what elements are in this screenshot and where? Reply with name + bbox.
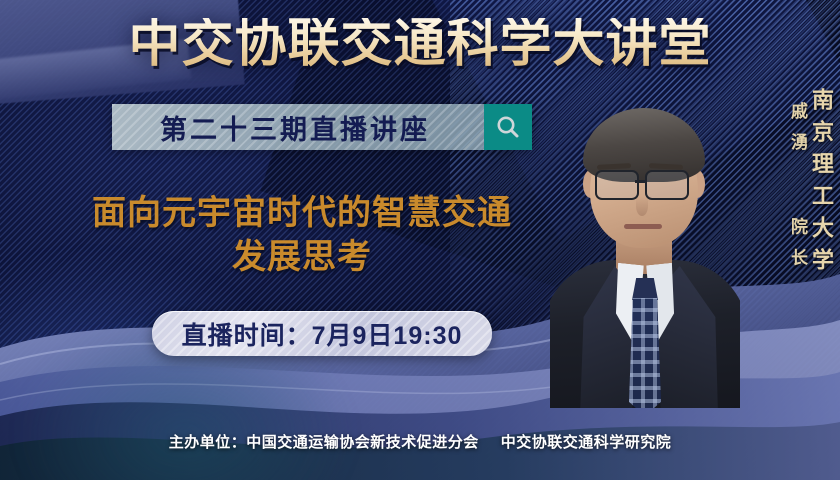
footer-organizer-2: 中交协联交通科学研究院 (501, 434, 672, 451)
search-icon (495, 114, 521, 140)
portrait-tie (629, 298, 661, 408)
lecture-topic: 面向元宇宙时代的智慧交通 发展思考 (52, 192, 552, 279)
portrait-nose (636, 196, 648, 216)
lecture-topic-line-1: 面向元宇宙时代的智慧交通 (52, 192, 552, 236)
portrait-tie-knot (632, 278, 658, 300)
speaker-affiliation: 南京理工大学 (810, 88, 832, 280)
live-lecture-poster: 中交协联交通科学大讲堂 第二十三期直播讲座 面向元宇宙时代的智慧交通 发展思考 … (0, 0, 840, 480)
portrait-glasses-right (645, 170, 689, 200)
speaker-name: 戚湧 (788, 102, 807, 164)
search-button[interactable] (484, 104, 532, 150)
footer-organizers: 主办单位：中国交通运输协会新技术促进分会中交协联交通科学研究院 (0, 431, 840, 452)
portrait-glasses-left (595, 170, 639, 200)
episode-bar: 第二十三期直播讲座 (112, 104, 532, 150)
speaker-name-title: 戚湧 院长 (789, 102, 806, 279)
broadcast-time-label: 直播时间：7月9日19:30 (182, 316, 463, 352)
speaker-portrait (550, 108, 740, 408)
portrait-glasses-bridge (635, 180, 645, 183)
footer-organizer-1: 中国交通运输协会新技术促进分会 (246, 434, 479, 451)
footer-prefix: 主办单位： (169, 434, 247, 451)
portrait-figure (550, 108, 740, 408)
portrait-mouth (624, 224, 662, 229)
lecture-topic-line-2: 发展思考 (52, 236, 552, 280)
broadcast-time-badge: 直播时间：7月9日19:30 (152, 311, 492, 356)
page-title: 中交协联交通科学大讲堂 (0, 18, 840, 70)
speaker-credits: 南京理工大学 戚湧 院长 (789, 88, 832, 280)
speaker-title: 院长 (788, 217, 807, 279)
episode-label: 第二十三期直播讲座 (112, 104, 484, 150)
